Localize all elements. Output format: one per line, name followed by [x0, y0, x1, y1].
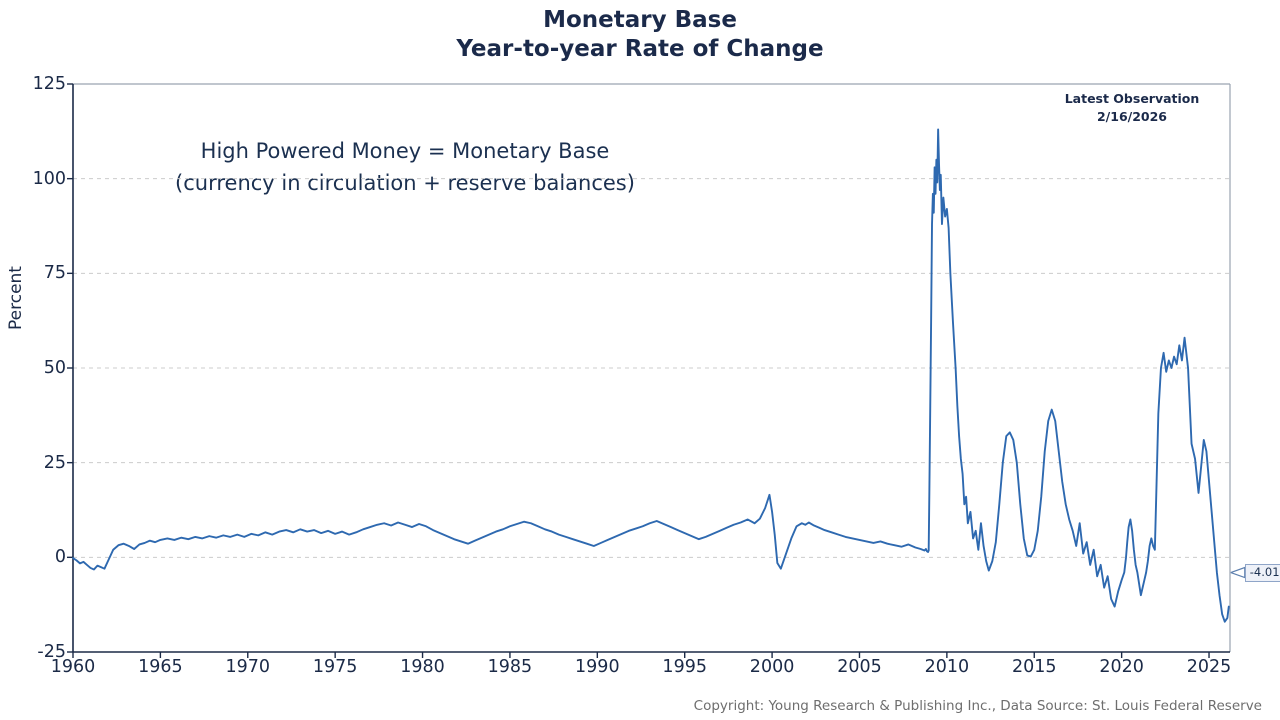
last-value-text: -4.01 [1250, 565, 1280, 579]
chart-root: Monetary Base Year-to-year Rate of Chang… [0, 0, 1280, 720]
callout-arrow [1231, 568, 1245, 578]
data-series-line [73, 129, 1229, 621]
plot-canvas [0, 0, 1280, 720]
last-value-callout: -4.01 [1245, 564, 1280, 582]
copyright-note: Copyright: Young Research & Publishing I… [694, 698, 1262, 714]
